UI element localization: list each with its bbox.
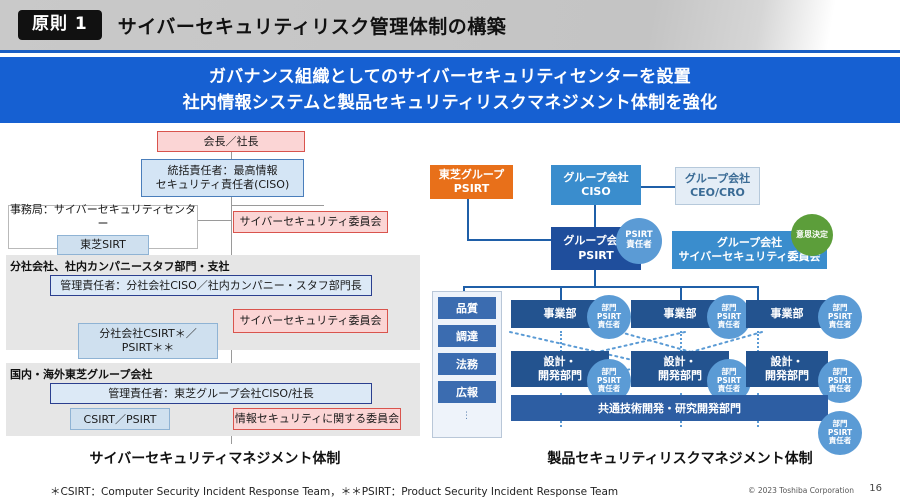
header-divider (0, 50, 900, 53)
box-secretariat: 事務局：サイバーセキュリティセンター 東芝SIRT (8, 205, 198, 249)
rline-ciso-to-psirt (594, 205, 596, 227)
box-ciso-line2: セキュリティ責任者(CISO) (156, 178, 290, 192)
box-ciso-line1: 統括責任者：最高情報 (168, 164, 278, 178)
box-subsidiary-manager: 管理責任者：分社会社CISO／社内カンパニー・スタフ部門長 (50, 275, 372, 296)
box-global-csirt: CSIRT／PSIRT (70, 408, 170, 430)
box-common-rd-department: 共通技術開発・研究開発部門 (511, 395, 828, 421)
design-dev-line1: 設計・ (544, 355, 577, 369)
secretariat-title: 事務局：サイバーセキュリティセンター (9, 203, 197, 232)
group-ceo-line1: グループ会社 (685, 172, 750, 186)
circle-dept-psirt-owner-div2: 部門 PSIRT 責任者 (707, 295, 751, 339)
group-psirt-line2: PSIRT (578, 249, 614, 263)
slide-header: 原則 1 サイバーセキュリティリスク管理体制の構築 (0, 0, 900, 50)
group-ciso-line1: グループ会社 (563, 171, 628, 185)
slide-body: 分社会社、社内カンパニースタフ部門・支社 国内・海外東芝グループ会社 会長／社長… (0, 123, 900, 504)
rline-psirt-to-left (467, 198, 469, 240)
page-number: 16 (869, 483, 882, 494)
box-global-manager: 管理責任者：東芝グループ会社CISO/社長 (50, 383, 372, 404)
box-group-ceo-cro: グループ会社 CEO/CRO (675, 167, 760, 205)
dept-psirt-line3: 責任者 (598, 385, 621, 393)
secretariat-unit: 東芝SIRT (57, 235, 149, 255)
subsidiary-csirt-line1: 分社会社CSIRT＊／ (99, 327, 196, 341)
group-ceo-line2: CEO/CRO (690, 186, 745, 200)
dept-psirt-line3: 責任者 (829, 321, 852, 329)
box-group-ciso: グループ会社 CISO (551, 165, 641, 205)
rline-bus-bar (463, 286, 757, 288)
dept-psirt-line3: 責任者 (598, 321, 621, 329)
banner-line-2: 社内情報システムと製品セキュリティリスクマネジメント体制を強化 (183, 90, 718, 116)
design-dev-line2: 開発部門 (765, 369, 809, 383)
box-ciso: 統括責任者：最高情報 セキュリティ責任者(CISO) (141, 159, 304, 197)
box-cyber-security-committee-top: サイバーセキュリティ委員会 (233, 211, 388, 233)
box-toshiba-group-psirt: 東芝グループ PSIRT (430, 165, 513, 199)
design-dev-line1: 設計・ (664, 355, 697, 369)
footnote-abbreviations: ＊CSIRT：Computer Security Incident Respon… (50, 484, 750, 499)
subsidiary-csirt-line2: PSIRT＊＊ (122, 341, 174, 355)
toshiba-psirt-line1: 東芝グループ (439, 168, 504, 182)
rline-psirt-horizontal (467, 239, 551, 241)
left-diagram-caption: サイバーセキュリティマネジメント体制 (20, 448, 410, 468)
design-dev-line2: 開発部門 (538, 369, 582, 383)
connector-committee-top (231, 205, 324, 206)
group-label-subsidiary: 分社会社、社内カンパニースタフ部門・支社 (10, 258, 229, 274)
box-design-dev-3: 設計・ 開発部門 (746, 351, 828, 387)
side-item-procurement: 調達 (438, 325, 496, 347)
toshiba-psirt-line2: PSIRT (454, 182, 490, 196)
box-subsidiary-csirt: 分社会社CSIRT＊／ PSIRT＊＊ (78, 323, 218, 359)
dept-psirt-line3: 責任者 (829, 385, 852, 393)
psirt-owner-line2: 責任者 (626, 241, 652, 251)
box-cyber-security-committee-g1: サイバーセキュリティ委員会 (233, 309, 388, 333)
circle-dept-psirt-owner-div3: 部門 PSIRT 責任者 (818, 295, 862, 339)
circle-psirt-owner: PSIRT 責任者 (616, 218, 662, 264)
principle-badge: 原則 1 (18, 10, 102, 40)
side-item-quality: 品質 (438, 297, 496, 319)
dept-psirt-line3: 責任者 (718, 385, 741, 393)
connector-secretariat (198, 220, 232, 221)
design-dev-line1: 設計・ (771, 355, 804, 369)
side-items-more-indicator: ⋮ (438, 405, 496, 427)
dept-psirt-line3: 責任者 (829, 437, 852, 445)
banner-line-1: ガバナンス組織としてのサイバーセキュリティセンターを設置 (209, 64, 691, 90)
box-chairman-president: 会長／社長 (157, 131, 305, 152)
circle-dept-psirt-owner-div1: 部門 PSIRT 責任者 (587, 295, 631, 339)
dept-psirt-line3: 責任者 (718, 321, 741, 329)
banner: ガバナンス組織としてのサイバーセキュリティセンターを設置 社内情報システムと製品… (0, 57, 900, 123)
rline-ciso-to-ceo (641, 186, 675, 188)
side-item-pr: 広報 (438, 381, 496, 403)
group-ciso-line2: CISO (581, 185, 610, 199)
circle-decision-making: 意思決定 (791, 214, 833, 256)
page-title: サイバーセキュリティリスク管理体制の構築 (118, 12, 506, 39)
side-item-legal: 法務 (438, 353, 496, 375)
box-business-division-3: 事業部 (746, 300, 828, 328)
group-committee-line1: グループ会社 (717, 236, 782, 250)
design-dev-line2: 開発部門 (658, 369, 702, 383)
box-infosec-committee: 情報セキュリティに関する委員会 (233, 408, 401, 430)
copyright-text: © 2023 Toshiba Corporation (748, 486, 854, 495)
right-diagram-caption: 製品セキュリティリスクマネジメント体制 (480, 448, 880, 468)
group-label-global: 国内・海外東芝グループ会社 (10, 366, 152, 382)
